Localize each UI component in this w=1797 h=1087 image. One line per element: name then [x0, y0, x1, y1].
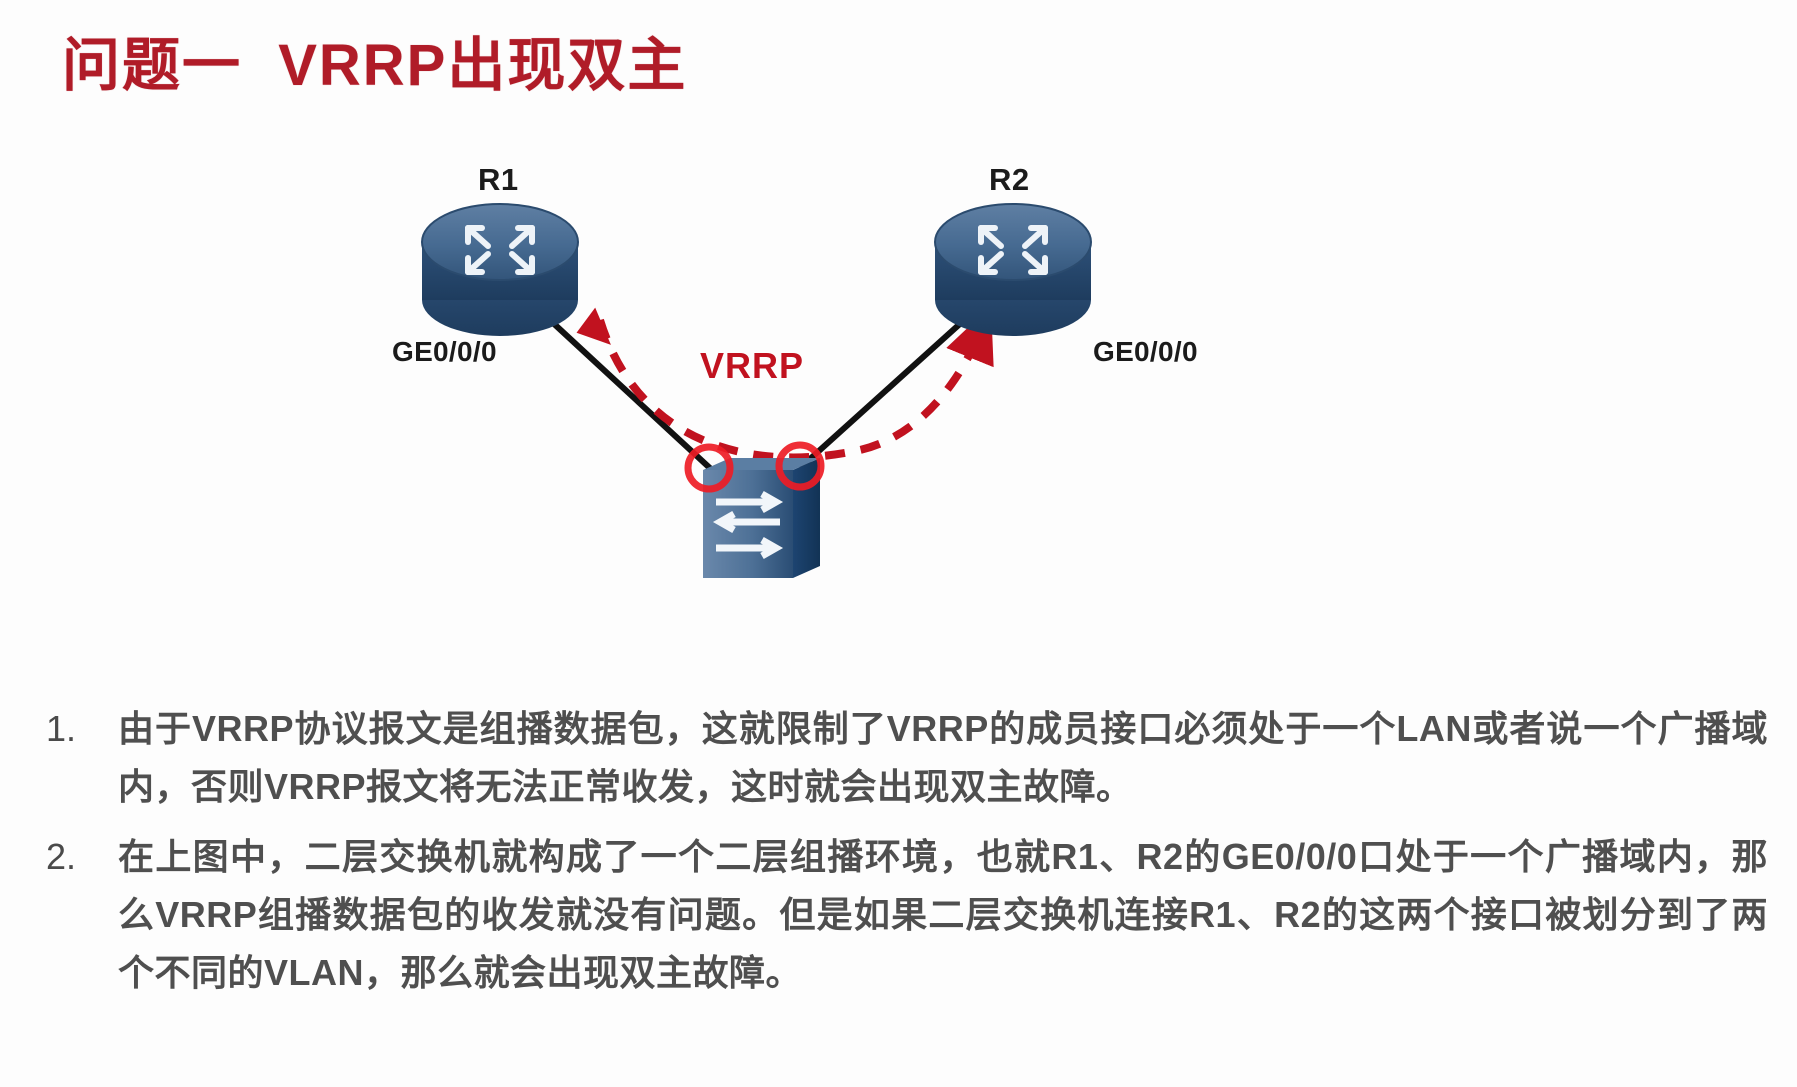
network-topology-diagram: R1 R2 GE0/0/0 GE0/0/0 VRRP	[0, 150, 1797, 610]
link-r1-switch	[552, 322, 712, 470]
list-item-number: 2.	[38, 828, 118, 886]
explanation-list: 1. 由于VRRP协议报文是组播数据包，这就限制了VRRP的成员接口必须处于一个…	[38, 700, 1768, 1014]
router-r1-label: R1	[478, 162, 519, 198]
router-r2-label: R2	[989, 162, 1030, 198]
list-item-number: 1.	[38, 700, 118, 758]
slide-canvas: 问题一 VRRP出现双主	[0, 0, 1797, 1087]
list-item: 2. 在上图中，二层交换机就构成了一个二层组播环境，也就R1、R2的GE0/0/…	[38, 828, 1768, 1002]
vrrp-flow-label: VRRP	[700, 345, 804, 387]
link-r2-switch	[800, 322, 962, 468]
r2-interface-label: GE0/0/0	[1093, 336, 1198, 368]
list-item: 1. 由于VRRP协议报文是组播数据包，这就限制了VRRP的成员接口必须处于一个…	[38, 700, 1768, 816]
list-item-text: 由于VRRP协议报文是组播数据包，这就限制了VRRP的成员接口必须处于一个LAN…	[118, 700, 1768, 816]
switch-icon	[703, 458, 820, 578]
router-r1-icon	[422, 204, 578, 336]
r1-interface-label: GE0/0/0	[392, 336, 497, 368]
list-item-text: 在上图中，二层交换机就构成了一个二层组播环境，也就R1、R2的GE0/0/0口处…	[118, 828, 1768, 1002]
router-r2-icon	[935, 204, 1091, 336]
page-title: 问题一 VRRP出现双主	[62, 18, 687, 102]
